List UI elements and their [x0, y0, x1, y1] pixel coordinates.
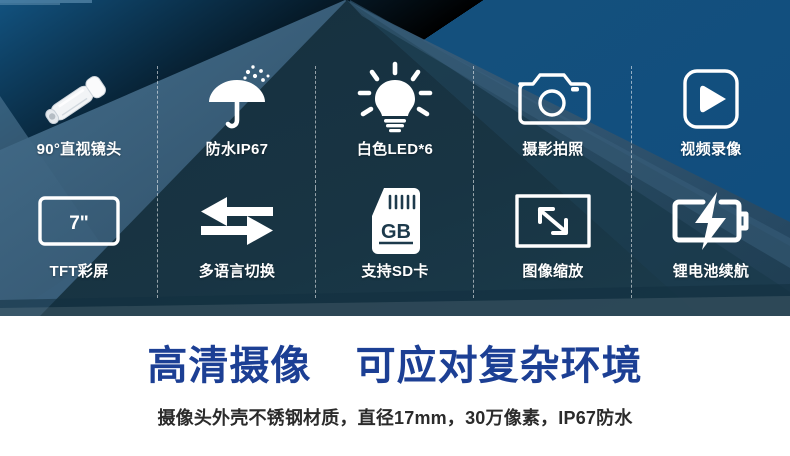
feature-label: 90°直视镜头 [37, 138, 122, 159]
image-zoom-icon [474, 184, 632, 258]
feature-cell-language[interactable]: 多语言切换 [158, 184, 316, 294]
feature-cell-photo[interactable]: 摄影拍照 [474, 62, 632, 184]
feature-label: 锂电池续航 [673, 260, 750, 281]
lightbulb-icon [316, 62, 474, 136]
flashlight-lens-icon [0, 62, 158, 136]
headline: 高清摄像 可应对复杂环境 [147, 346, 642, 386]
camera-icon [474, 62, 632, 136]
sd-capacity-text: GB [381, 221, 411, 243]
play-video-icon [632, 62, 790, 136]
feature-label: 防水IP67 [206, 138, 269, 159]
feature-label: 支持SD卡 [361, 260, 428, 281]
feature-cell-battery[interactable]: 锂电池续航 [632, 184, 790, 294]
tft-screen-icon: 7" [0, 184, 158, 258]
copy-block: 高清摄像 可应对复杂环境 摄像头外壳不锈钢材质，直径17mm，30万像素，IP6… [0, 316, 790, 456]
headline-part-2: 可应对复杂环境 [356, 344, 643, 388]
feature-cell-waterproof[interactable]: 防水IP67 [158, 62, 316, 184]
grid-top-spacer [0, 0, 790, 62]
feature-label: 摄影拍照 [522, 138, 583, 159]
feature-cell-sdcard[interactable]: GB 支持SD卡 [316, 184, 474, 294]
feature-label: 图像缩放 [522, 260, 583, 281]
screen-size-text: 7" [69, 213, 89, 234]
feature-cell-led[interactable]: 白色LED*6 [316, 62, 474, 184]
sd-card-icon: GB [316, 184, 474, 258]
swap-arrows-icon [158, 184, 316, 258]
feature-cell-zoom[interactable]: 图像缩放 [474, 184, 632, 294]
battery-charge-icon [632, 184, 790, 258]
feature-label: 视频录像 [680, 138, 741, 159]
feature-label: 白色LED*6 [357, 138, 433, 159]
subline: 摄像头外壳不锈钢材质，直径17mm，30万像素，IP67防水 [157, 404, 632, 430]
feature-grid: 90°直视镜头 防水IP67 [0, 0, 790, 316]
feature-label: 多语言切换 [199, 260, 276, 281]
umbrella-rain-icon [158, 62, 316, 136]
headline-part-1: 高清摄像 [147, 344, 311, 388]
feature-label: TFT彩屏 [50, 260, 109, 281]
banner-stage: 90°直视镜头 防水IP67 [0, 0, 790, 456]
feature-cell-screen[interactable]: 7" TFT彩屏 [0, 184, 158, 294]
feature-cell-video[interactable]: 视频录像 [632, 62, 790, 184]
feature-cell-lens[interactable]: 90°直视镜头 [0, 62, 158, 184]
